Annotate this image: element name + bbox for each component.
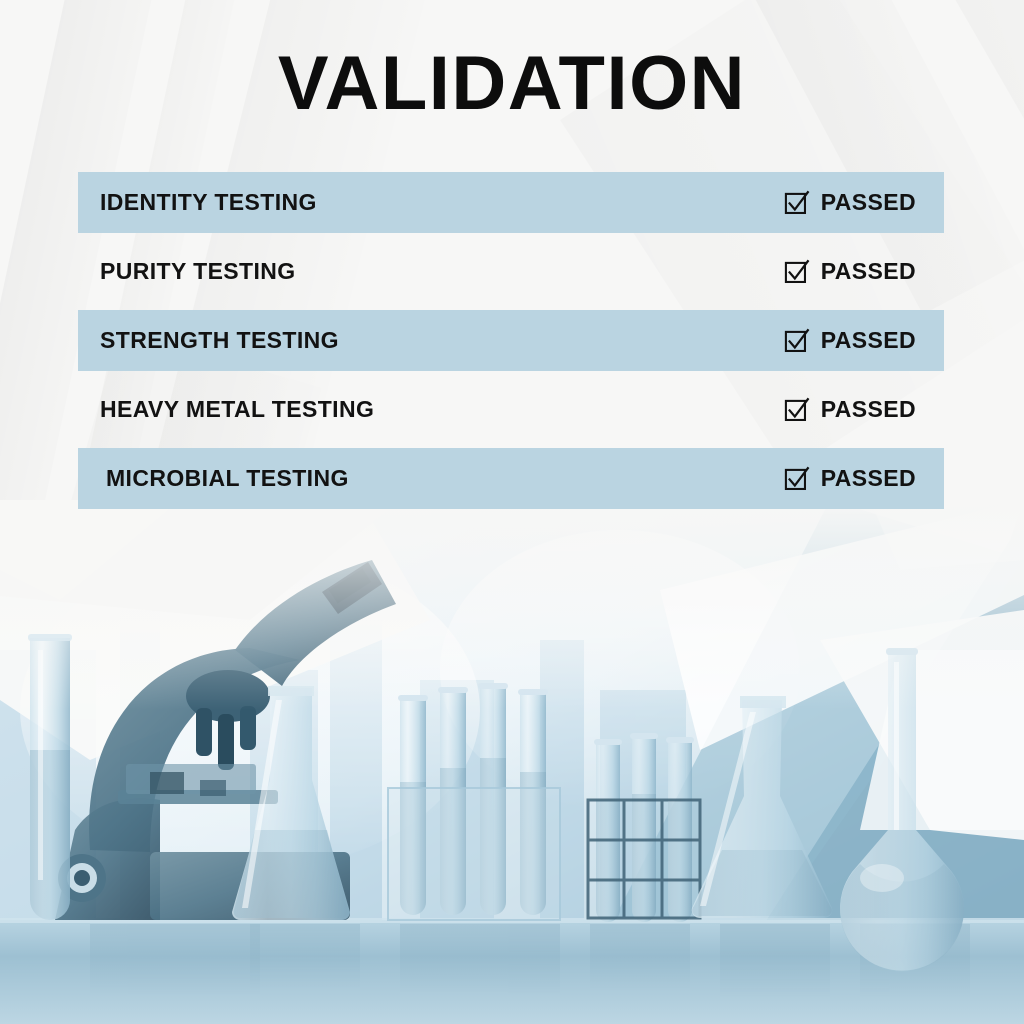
checked-box-icon [784,397,810,423]
checklist-row[interactable]: PURITY TESTINGPASSED [78,241,944,302]
status-badge: PASSED [821,258,916,285]
checklist-row-label: STRENGTH TESTING [78,327,339,354]
page-title: VALIDATION [0,46,1024,122]
checklist-row-label: PURITY TESTING [78,258,296,285]
checklist-row-label: HEAVY METAL TESTING [78,396,374,423]
checklist-row-status: PASSED [784,258,916,285]
checklist-row-status: PASSED [784,465,916,492]
checklist-row[interactable]: IDENTITY TESTINGPASSED [78,172,944,233]
checklist-row[interactable]: STRENGTH TESTINGPASSED [78,310,944,371]
checklist-row-status: PASSED [784,189,916,216]
checklist-row-status: PASSED [784,396,916,423]
status-badge: PASSED [821,327,916,354]
lab-photo [0,500,1024,1024]
status-badge: PASSED [821,189,916,216]
status-badge: PASSED [821,465,916,492]
checked-box-icon [784,190,810,216]
checked-box-icon [784,328,810,354]
checklist-row[interactable]: MICROBIAL TESTINGPASSED [78,448,944,509]
checklist-row-label: MICROBIAL TESTING [78,465,349,492]
validation-checklist: IDENTITY TESTINGPASSEDPURITY TESTINGPASS… [78,172,944,517]
checklist-row-label: IDENTITY TESTING [78,189,317,216]
checklist-row-status: PASSED [784,327,916,354]
status-badge: PASSED [821,396,916,423]
checked-box-icon [784,466,810,492]
checklist-row[interactable]: HEAVY METAL TESTINGPASSED [78,379,944,440]
checked-box-icon [784,259,810,285]
validation-infographic: VALIDATION IDENTITY TESTINGPASSEDPURITY … [0,0,1024,1024]
